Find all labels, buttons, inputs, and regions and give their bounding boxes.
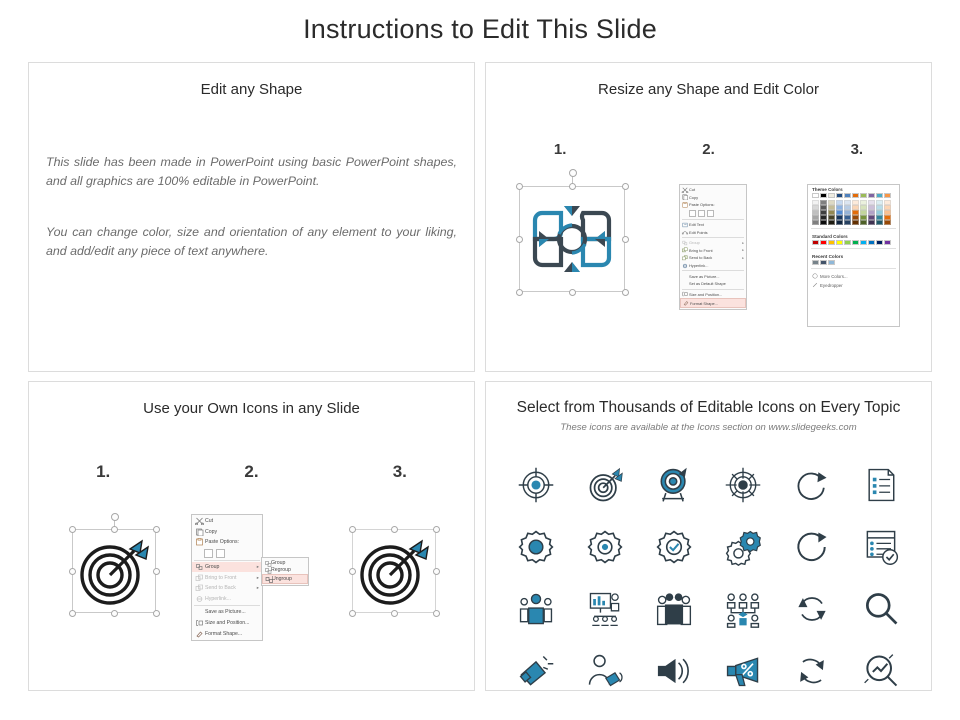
refresh-arrow-icon[interactable]	[777, 454, 846, 516]
color-swatch[interactable]	[812, 220, 819, 225]
menu-item-bring-to-front[interactable]: Bring to Front ▸	[680, 247, 746, 255]
color-swatch-column[interactable]	[868, 200, 875, 225]
more-colors-label: More Colors...	[820, 274, 848, 279]
team-standing-icon[interactable]	[640, 578, 709, 640]
menu-item-hyperlink[interactable]: Hyperlink...	[192, 594, 262, 605]
color-swatch[interactable]	[844, 220, 851, 225]
panel-heading-edit-shape: Edit any Shape	[29, 81, 474, 98]
paste-merge-formatting-icon[interactable]	[698, 210, 705, 217]
palette-icon	[812, 273, 818, 280]
resize-handle[interactable]	[516, 236, 523, 243]
color-swatch[interactable]	[828, 193, 835, 198]
rotate-handle[interactable]	[569, 169, 577, 177]
checklist-document-icon[interactable]	[846, 454, 915, 516]
resize-handle[interactable]	[349, 526, 356, 533]
theme-colors-label: Theme Colors	[808, 185, 899, 193]
step-number-3: 3.	[326, 462, 474, 482]
menu-label: Edit Points	[689, 230, 744, 235]
menu-item-save-as-picture[interactable]: Save as Picture...	[680, 272, 746, 280]
chevron-right-icon: ▸	[254, 575, 259, 581]
submenu-item-group[interactable]: Group	[262, 559, 308, 567]
resize-handle[interactable]	[69, 610, 76, 617]
menu-item-send-to-back[interactable]: Send to Back ▸	[680, 254, 746, 262]
person-megaphone-icon[interactable]	[571, 640, 640, 702]
menu-item-format-shape[interactable]: Format Shape...	[680, 298, 746, 308]
color-swatch[interactable]	[844, 193, 851, 198]
send-back-icon	[194, 584, 205, 592]
menu-item-paste-options[interactable]: Paste Options:	[680, 201, 746, 209]
resize-handle[interactable]	[622, 236, 629, 243]
color-swatch[interactable]	[844, 240, 851, 245]
color-swatch[interactable]	[852, 240, 859, 245]
rotate-handle[interactable]	[111, 513, 119, 521]
resize-handle[interactable]	[153, 610, 160, 617]
color-swatch[interactable]	[860, 220, 867, 225]
regroup-icon	[263, 567, 271, 573]
paragraph-one: This slide has been made in PowerPoint u…	[46, 153, 457, 191]
panel-subheading-icon-library: These icons are available at the Icons s…	[486, 422, 931, 433]
menu-label: Edit Text	[689, 222, 744, 227]
gear-check-icon[interactable]	[640, 516, 709, 578]
bring-front-icon	[194, 574, 205, 582]
step-number-2: 2.	[634, 141, 782, 158]
circular-arrow-icon[interactable]	[777, 516, 846, 578]
color-swatch[interactable]	[836, 240, 843, 245]
menu-label: Set as Default Shape	[689, 281, 744, 286]
chevron-right-icon: ▸	[254, 585, 259, 591]
sync-arrows-icon[interactable]	[777, 578, 846, 640]
menu-separator	[682, 289, 744, 290]
more-colors-item[interactable]: More Colors...	[808, 272, 899, 281]
format-shape-icon	[194, 630, 205, 638]
menu-label: Hyperlink...	[689, 263, 744, 268]
panel-edit-any-shape: Edit any Shape This slide has been made …	[28, 62, 475, 372]
submenu-item-ungroup[interactable]: Ungroup	[262, 574, 308, 584]
color-swatch[interactable]	[852, 193, 859, 198]
menu-item-format-shape[interactable]: Format Shape...	[192, 628, 262, 639]
color-swatch[interactable]	[884, 220, 891, 225]
chevron-right-icon: ▸	[254, 564, 259, 570]
megaphone-icon[interactable]	[502, 640, 571, 702]
context-menu-group[interactable]: Cut Copy Paste Options: Group ▸	[191, 514, 263, 641]
target-shape-selected[interactable]	[72, 529, 156, 613]
panel-heading-icon-library: Select from Thousands of Editable Icons …	[486, 399, 931, 417]
menu-label: Ungroup	[272, 576, 305, 582]
color-swatch[interactable]	[820, 260, 827, 265]
none-icon	[681, 281, 689, 287]
paste-option-buttons[interactable]	[192, 548, 262, 559]
menu-label: Copy	[689, 195, 744, 200]
divider	[811, 228, 896, 229]
group-icon	[194, 563, 205, 571]
divider	[811, 248, 896, 249]
group-icon	[263, 560, 271, 566]
color-swatch[interactable]	[828, 220, 835, 225]
menu-label: Copy	[205, 529, 259, 535]
menu-item-size-and-position[interactable]: Size and Position...	[680, 291, 746, 299]
menu-label: Send to Back	[205, 585, 254, 591]
color-swatch[interactable]	[812, 260, 819, 265]
recent-colors-label: Recent Colors	[808, 252, 899, 260]
megaphone-percent-icon[interactable]	[709, 640, 778, 702]
menu-item-bring-to-front[interactable]: Bring to Front ▸	[192, 572, 262, 583]
paste-keep-formatting-icon[interactable]	[204, 549, 213, 558]
color-swatch[interactable]	[828, 260, 835, 265]
resize-handle[interactable]	[433, 610, 440, 617]
send-back-icon	[681, 255, 689, 261]
color-swatch-column[interactable]	[876, 200, 883, 225]
resize-handle[interactable]	[569, 289, 576, 296]
menu-item-group[interactable]: Group ▸	[192, 562, 262, 573]
paragraph-two: You can change color, size and orientati…	[46, 223, 457, 261]
eyedropper-label: Eyedropper	[820, 283, 843, 288]
color-swatch-column[interactable]	[836, 200, 843, 225]
menu-label: Paste Options:	[205, 539, 259, 545]
submenu-item-regroup[interactable]: Regroup	[262, 567, 308, 575]
target-arrow-icon[interactable]	[571, 454, 640, 516]
color-swatch-column[interactable]	[812, 200, 819, 225]
color-swatch[interactable]	[868, 220, 875, 225]
color-swatch[interactable]	[820, 240, 827, 245]
resize-handle[interactable]	[622, 289, 629, 296]
color-swatch[interactable]	[860, 240, 867, 245]
menu-item-copy[interactable]: Copy	[192, 527, 262, 538]
menu-label: Bring to Front	[205, 575, 254, 581]
menu-separator	[194, 605, 260, 606]
eyedropper-icon	[812, 282, 818, 289]
menu-label: Cut	[205, 518, 259, 524]
circular-arrows-icon[interactable]	[777, 640, 846, 702]
color-swatch-column[interactable]	[884, 200, 891, 225]
bring-front-icon	[681, 247, 689, 253]
resize-handle[interactable]	[349, 610, 356, 617]
menu-item-hyperlink[interactable]: Hyperlink...	[680, 262, 746, 270]
resize-handle[interactable]	[153, 526, 160, 533]
hyperlink-icon	[194, 595, 205, 603]
menu-label: Group	[271, 560, 306, 566]
resize-handle[interactable]	[69, 526, 76, 533]
target-crosshair-icon[interactable]	[709, 454, 778, 516]
color-swatch[interactable]	[884, 193, 891, 198]
icon-grid	[502, 454, 915, 702]
color-swatch[interactable]	[812, 193, 819, 198]
color-swatch[interactable]	[836, 220, 843, 225]
target-stand-icon[interactable]	[640, 454, 709, 516]
context-menu-shape[interactable]: Cut Copy Paste Options: Edit Text	[679, 184, 747, 310]
menu-item-size-and-position[interactable]: Size and Position...	[192, 618, 262, 629]
color-swatch[interactable]	[868, 240, 875, 245]
menu-item-group[interactable]: Group ▸	[680, 239, 746, 247]
menu-label: Save as Picture...	[689, 274, 744, 279]
color-swatch[interactable]	[852, 220, 859, 225]
quadrant-shape-graphic[interactable]	[519, 186, 625, 292]
resize-handle[interactable]	[516, 183, 523, 190]
scissors-icon	[194, 517, 205, 525]
color-swatch[interactable]	[860, 193, 867, 198]
paste-icon	[681, 202, 689, 208]
gears-double-icon[interactable]	[709, 516, 778, 578]
panel-heading-own-icons: Use your Own Icons in any Slide	[29, 400, 474, 417]
theme-colors-tint-grid[interactable]	[808, 200, 899, 225]
step-number-3: 3.	[783, 141, 931, 158]
menu-separator	[682, 270, 744, 271]
menu-separator	[194, 560, 260, 561]
speaker-announce-icon[interactable]	[640, 640, 709, 702]
theme-colors-base-row[interactable]	[808, 193, 899, 198]
step-number-2: 2.	[177, 462, 325, 482]
edit-text-icon	[681, 222, 689, 228]
paste-option-buttons[interactable]	[680, 209, 746, 218]
resize-handle[interactable]	[153, 568, 160, 575]
menu-label: Size and Position...	[205, 620, 259, 626]
menu-item-save-as-picture[interactable]: Save as Picture...	[192, 607, 262, 618]
color-swatch[interactable]	[812, 240, 819, 245]
paste-picture-icon[interactable]	[707, 210, 714, 217]
none-icon	[681, 273, 689, 279]
edit-points-icon	[681, 229, 689, 235]
panel-icon-library: Select from Thousands of Editable Icons …	[485, 381, 932, 691]
standard-colors-row[interactable]	[808, 240, 899, 245]
menu-label: Size and Position...	[689, 292, 744, 297]
resize-handle[interactable]	[391, 526, 398, 533]
color-swatch[interactable]	[820, 193, 827, 198]
color-swatch[interactable]	[868, 193, 875, 198]
none-icon	[194, 608, 205, 616]
menu-label: Paste Options:	[689, 202, 744, 207]
magnifier-icon[interactable]	[846, 578, 915, 640]
menu-item-cut[interactable]: Cut	[680, 186, 746, 194]
format-shape-icon	[682, 300, 690, 306]
copy-icon	[194, 528, 205, 536]
menu-item-send-to-back[interactable]: Send to Back ▸	[192, 583, 262, 594]
menu-label: Bring to Front	[689, 248, 739, 253]
people-group-icon[interactable]	[502, 578, 571, 640]
color-swatch[interactable]	[836, 193, 843, 198]
menu-label: Group	[689, 240, 739, 245]
menu-item-paste-options[interactable]: Paste Options:	[192, 537, 262, 548]
menu-item-set-default-shape[interactable]: Set as Default Shape	[680, 280, 746, 288]
color-swatch[interactable]	[820, 220, 827, 225]
resize-handle[interactable]	[433, 526, 440, 533]
menu-label: Save as Picture...	[205, 609, 259, 615]
resize-handle[interactable]	[622, 183, 629, 190]
magnifier-chart-icon[interactable]	[846, 640, 915, 702]
menu-label: Group	[205, 564, 254, 570]
group-icon	[681, 240, 689, 246]
menu-separator	[682, 219, 744, 220]
menu-label: Send to Back	[689, 255, 739, 260]
ungroup-icon	[264, 576, 272, 582]
group-submenu[interactable]: Group Regroup Ungroup	[261, 557, 309, 586]
color-swatch[interactable]	[884, 240, 891, 245]
page-title: Instructions to Edit This Slide	[0, 14, 960, 45]
step-number-1: 1.	[29, 462, 177, 482]
resize-handle[interactable]	[516, 289, 523, 296]
chevron-right-icon: ▸	[739, 256, 744, 260]
gear-filled-icon[interactable]	[502, 516, 571, 578]
color-swatch[interactable]	[828, 240, 835, 245]
step-number-1: 1.	[486, 141, 634, 158]
hyperlink-icon	[681, 263, 689, 269]
color-picker-panel[interactable]: Theme Colors Standard Colors Recent Colo…	[807, 184, 900, 327]
menu-label: Format Shape...	[690, 301, 743, 306]
color-swatch-column[interactable]	[828, 200, 835, 225]
resize-handle[interactable]	[69, 568, 76, 575]
copy-icon	[681, 194, 689, 200]
resize-handle[interactable]	[391, 610, 398, 617]
size-position-icon	[194, 619, 205, 627]
menu-item-edit-points[interactable]: Edit Points	[680, 228, 746, 236]
recent-colors-row[interactable]	[808, 260, 899, 265]
menu-label: Format Shape...	[205, 631, 259, 637]
menu-item-cut[interactable]: Cut	[192, 516, 262, 527]
resize-handle[interactable]	[111, 526, 118, 533]
gear-dot-icon[interactable]	[571, 516, 640, 578]
panel-heading-resize-shape: Resize any Shape and Edit Color	[486, 81, 931, 98]
color-swatch-column[interactable]	[844, 200, 851, 225]
document-check-icon[interactable]	[846, 516, 915, 578]
resize-handle[interactable]	[111, 610, 118, 617]
color-swatch[interactable]	[876, 240, 883, 245]
menu-label: Hyperlink...	[205, 596, 259, 602]
target-shape-grouped[interactable]	[352, 529, 436, 613]
menu-label: Cut	[689, 187, 744, 192]
menu-item-edit-text[interactable]: Edit Text	[680, 221, 746, 229]
chevron-right-icon: ▸	[739, 248, 744, 252]
menu-item-copy[interactable]: Copy	[680, 194, 746, 202]
presentation-meeting-icon[interactable]	[571, 578, 640, 640]
menu-label: Regroup	[271, 567, 306, 573]
color-swatch-column[interactable]	[852, 200, 859, 225]
paste-icon	[194, 538, 205, 546]
resize-handle[interactable]	[349, 568, 356, 575]
color-swatch[interactable]	[876, 220, 883, 225]
color-swatch-column[interactable]	[820, 200, 827, 225]
resize-handle[interactable]	[433, 568, 440, 575]
color-swatch-column[interactable]	[860, 200, 867, 225]
menu-separator	[682, 237, 744, 238]
crosshair-target-icon[interactable]	[502, 454, 571, 516]
size-position-icon	[681, 291, 689, 297]
slide-canvas: Instructions to Edit This Slide Edit any…	[0, 0, 960, 720]
org-chart-team-icon[interactable]	[709, 578, 778, 640]
eyedropper-item[interactable]: Eyedropper	[808, 281, 899, 290]
chevron-right-icon: ▸	[739, 241, 744, 245]
paste-keep-formatting-icon[interactable]	[689, 210, 696, 217]
scissors-icon	[681, 187, 689, 193]
standard-colors-label: Standard Colors	[808, 232, 899, 240]
paste-picture-icon[interactable]	[216, 549, 225, 558]
resize-handle[interactable]	[569, 183, 576, 190]
color-swatch[interactable]	[876, 193, 883, 198]
divider	[811, 268, 896, 269]
